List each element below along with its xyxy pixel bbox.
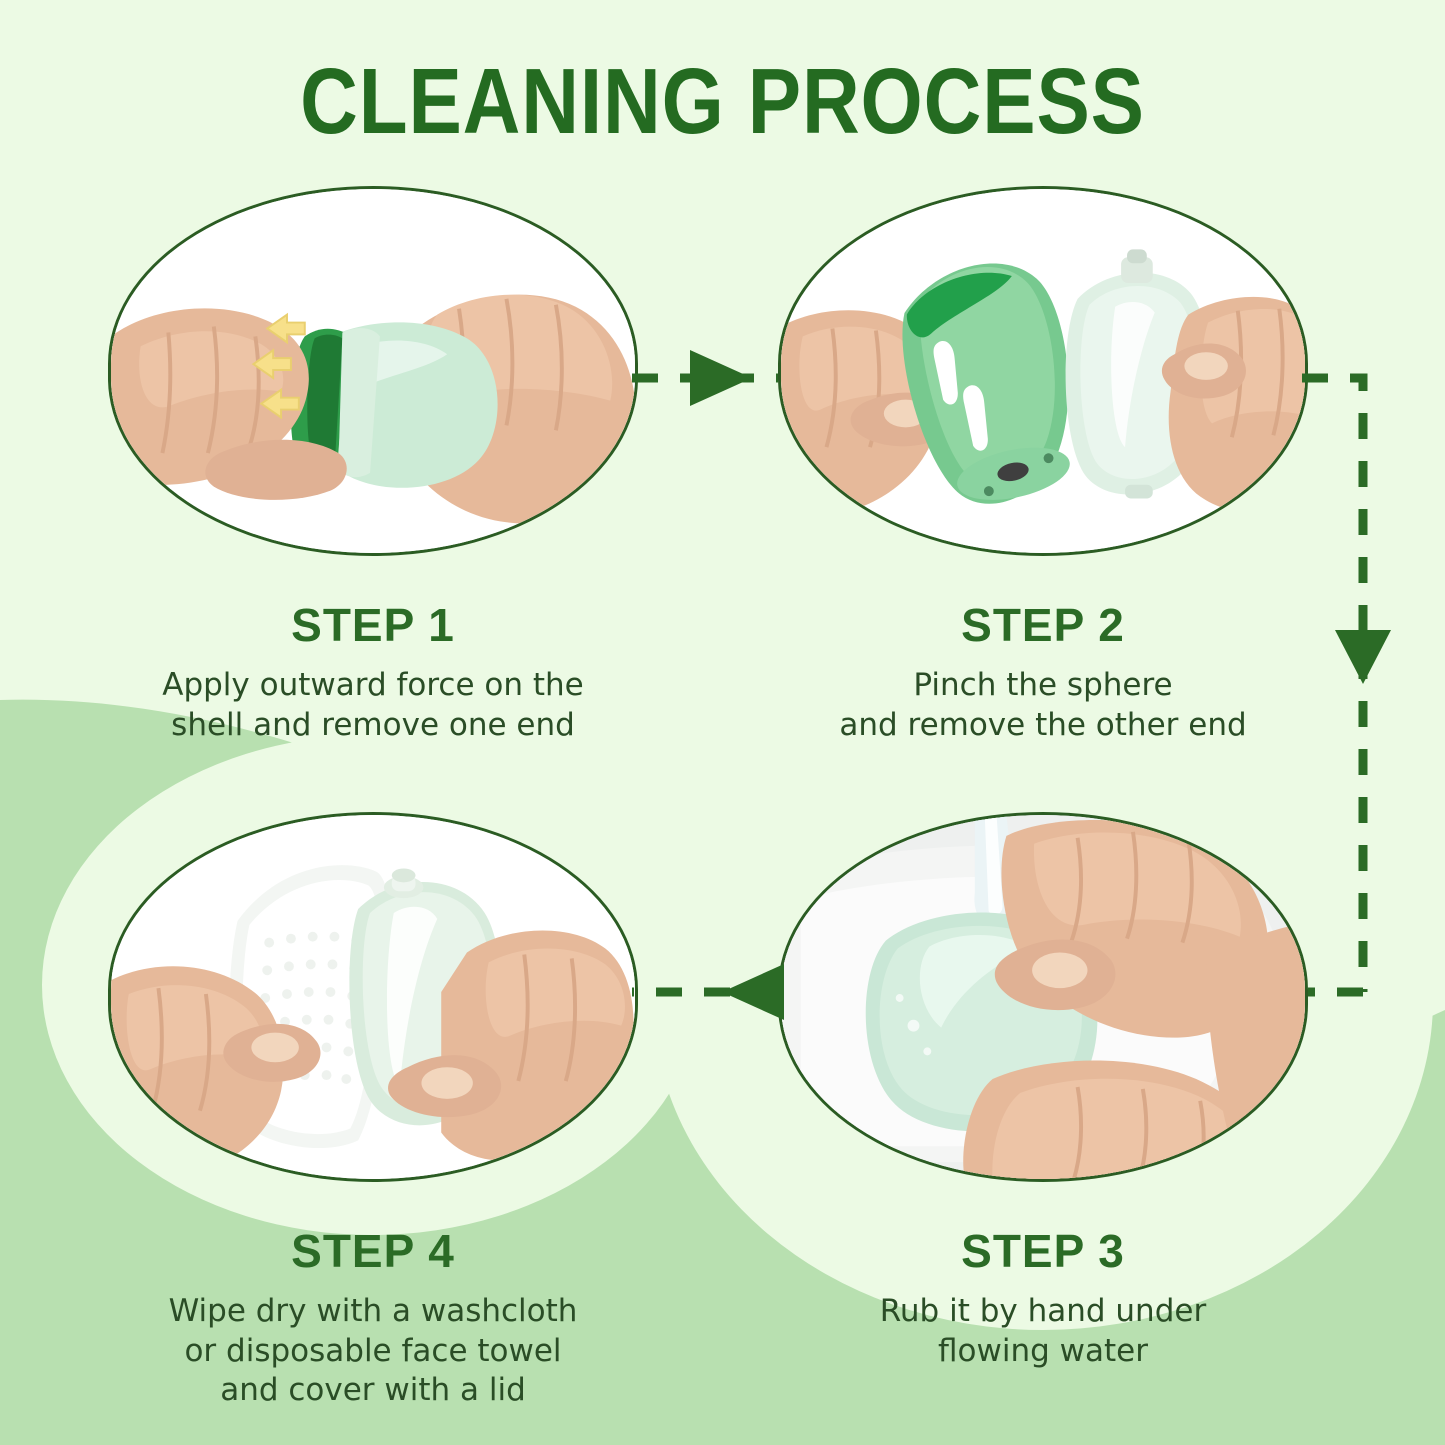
step-1-line-2: shell and remove one end xyxy=(108,706,638,746)
step-card-1: STEP 1 Apply outward force on the shell … xyxy=(108,186,638,745)
step-4-label: STEP 4 xyxy=(108,1224,638,1278)
step-2-description: Pinch the sphere and remove the other en… xyxy=(778,666,1308,745)
hands-rinsing-bottle-photo xyxy=(781,815,1305,1179)
step-2-label: STEP 2 xyxy=(778,598,1308,652)
arrowhead-down-icon xyxy=(1335,630,1391,684)
step-4-description: Wipe dry with a washcloth or disposable … xyxy=(108,1292,638,1411)
step-4-line-3: and cover with a lid xyxy=(108,1371,638,1411)
step-3-line-1: Rub it by hand under xyxy=(778,1292,1308,1332)
arrow-step2-to-step3-line xyxy=(1302,378,1363,992)
step-3-label: STEP 3 xyxy=(778,1224,1308,1278)
step-1-line-1: Apply outward force on the xyxy=(108,666,638,706)
hands-drying-bottle-photo xyxy=(111,815,635,1179)
step-2-line-1: Pinch the sphere xyxy=(778,666,1308,706)
step-2-photo-frame xyxy=(778,186,1308,556)
step-3-line-2: flowing water xyxy=(778,1332,1308,1372)
step-card-4: STEP 4 Wipe dry with a washcloth or disp… xyxy=(108,812,638,1411)
step-3-photo-frame xyxy=(778,812,1308,1182)
step-3-description: Rub it by hand under flowing water xyxy=(778,1292,1308,1371)
step-2-line-2: and remove the other end xyxy=(778,706,1308,746)
step-card-3: STEP 3 Rub it by hand under flowing wate… xyxy=(778,812,1308,1371)
infographic-poster: CLEANING PROCESS xyxy=(0,0,1445,1445)
step-4-line-2: or disposable face towel xyxy=(108,1332,638,1372)
hands-separating-shell-and-bottle-photo xyxy=(781,189,1305,553)
step-4-photo-frame xyxy=(108,812,638,1182)
arrowhead-left-icon xyxy=(722,964,784,1020)
step-1-description: Apply outward force on the shell and rem… xyxy=(108,666,638,745)
step-1-photo-frame xyxy=(108,186,638,556)
step-4-line-1: Wipe dry with a washcloth xyxy=(108,1292,638,1332)
arrowhead-right-icon xyxy=(690,350,752,406)
step-1-label: STEP 1 xyxy=(108,598,638,652)
page-title: CLEANING PROCESS xyxy=(101,48,1344,155)
hands-opening-shell-photo xyxy=(111,189,635,553)
step-card-2: STEP 2 Pinch the sphere and remove the o… xyxy=(778,186,1308,745)
